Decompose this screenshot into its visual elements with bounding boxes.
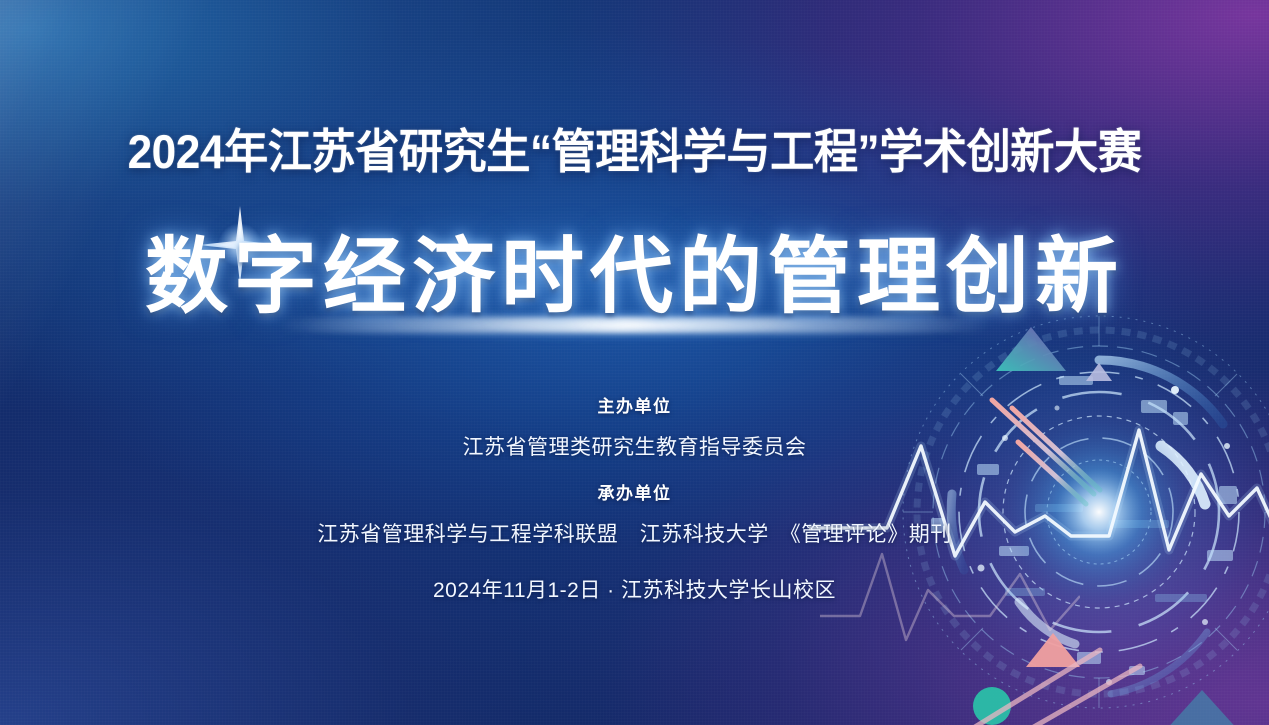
page-title: 2024年江苏省研究生“管理科学与工程”学术创新大赛 <box>38 124 1231 179</box>
organizer-heading: 主办单位 <box>0 392 1269 417</box>
credits-block: 主办单位 江苏省管理类研究生教育指导委员会 承办单位 江苏省管理科学与工程学科联… <box>0 392 1269 604</box>
poster-subtitle: 数字经济时代的管理创新 <box>0 236 1269 319</box>
organizer-name: 江苏省管理类研究生教育指导委员会 <box>0 431 1269 461</box>
event-poster: 2024年江苏省研究生“管理科学与工程”学术创新大赛 数字经济时代的管理创新 主… <box>0 0 1269 725</box>
background-texture <box>0 0 1269 725</box>
host-heading: 承办单位 <box>0 479 1269 504</box>
host-names: 江苏省管理科学与工程学科联盟 江苏科技大学 《管理评论》期刊 <box>0 518 1269 548</box>
date-venue: 2024年11月1-2日 · 江苏科技大学长山校区 <box>0 574 1269 604</box>
